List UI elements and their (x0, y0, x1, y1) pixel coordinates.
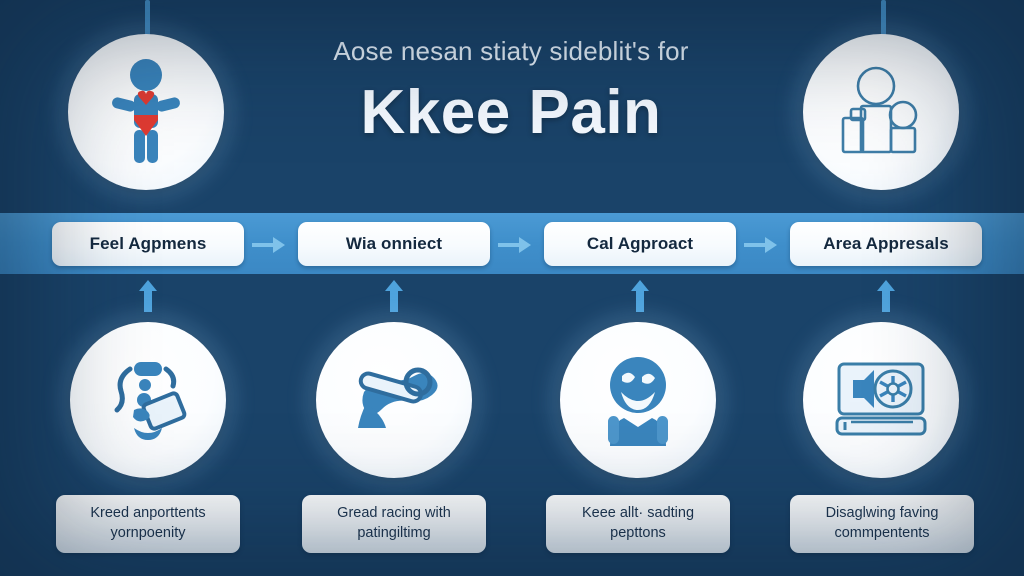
knee-scan-card-icon (100, 352, 196, 448)
headline-block: Aose nesan stiaty sideblit's for Kkee Pa… (246, 36, 776, 148)
up-arrow-3-icon (630, 280, 650, 312)
top-icon-circle-left[interactable] (68, 34, 224, 190)
step-arrow-2-icon (498, 236, 532, 254)
bottom-icon-circle-2[interactable] (316, 322, 472, 478)
caption-box-2: Gread racing with patingiltimg (302, 495, 486, 553)
caption-line-2: patingiltimg (357, 525, 430, 541)
caption-box-3: Keee allt· sadting pepttons (546, 495, 730, 553)
screen-gear-speaker-icon (831, 358, 931, 442)
caption-line-2: yornpoenity (111, 525, 186, 541)
subtitle: Aose nesan stiaty sideblit's for (246, 36, 776, 67)
bottom-icon-circle-3[interactable] (560, 322, 716, 478)
hand-brace-tool-icon (346, 360, 442, 440)
top-icon-circle-right[interactable] (803, 34, 959, 190)
step-pill-2[interactable]: Wia onniect (298, 222, 490, 266)
step-pill-1[interactable]: Feel Agpmens (52, 222, 244, 266)
caption-box-4: Disaglwing faving commpentents (790, 495, 974, 553)
group-chart-outline-icon (831, 62, 931, 162)
step-arrow-3-icon (744, 236, 778, 254)
up-arrow-1-icon (138, 280, 158, 312)
bottom-icon-circle-4[interactable] (803, 322, 959, 478)
caption-line-1: Gread racing with (337, 505, 451, 521)
step-arrow-1-icon (252, 236, 286, 254)
caption-line-1: Keee allt· sadting (582, 505, 694, 521)
body-pain-figure-icon (98, 58, 194, 166)
caption-box-1: Kreed anporttents yornpoenity (56, 495, 240, 553)
up-arrow-4-icon (876, 280, 896, 312)
infographic-canvas: Aose nesan stiaty sideblit's for Kkee Pa… (0, 0, 1024, 576)
page-title: Kkee Pain (246, 77, 776, 148)
up-arrow-2-icon (384, 280, 404, 312)
step-pill-3[interactable]: Cal Agproact (544, 222, 736, 266)
caption-line-2: pepttons (610, 525, 666, 541)
smiling-person-icon (590, 352, 686, 448)
step-pill-4[interactable]: Area Appresals (790, 222, 982, 266)
caption-line-1: Kreed anporttents (90, 505, 205, 521)
caption-line-2: commpentents (834, 525, 929, 541)
bottom-icon-circle-1[interactable] (70, 322, 226, 478)
caption-line-1: Disaglwing faving (826, 505, 939, 521)
